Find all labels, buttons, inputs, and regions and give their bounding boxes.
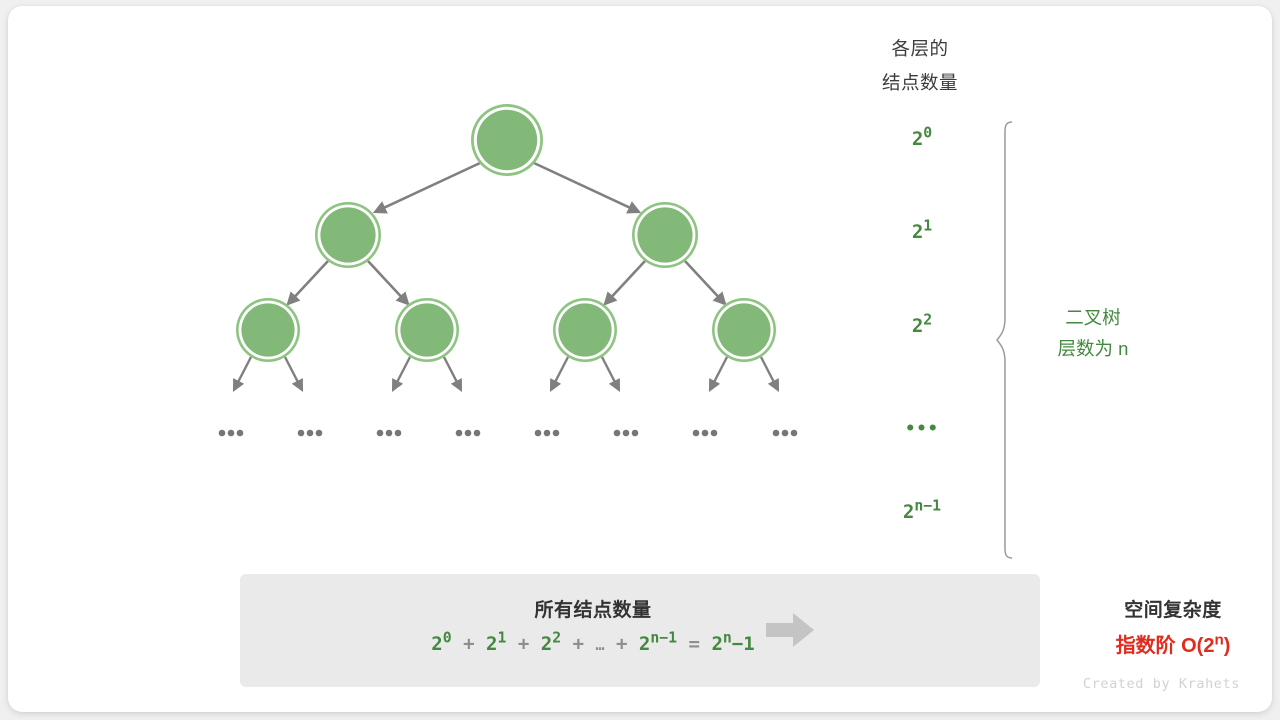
term-n-base: 2 (639, 633, 650, 655)
level-count-base-n: 2 (903, 501, 914, 523)
brace-annotation-line2: 层数为 n (1028, 333, 1158, 364)
brace-annotation: 二叉树 层数为 n (1028, 302, 1158, 364)
watermark-credit: Created by Krahets (1040, 676, 1240, 692)
result-base: 2 (711, 633, 722, 655)
total-nodes-title: 所有结点数量 (248, 595, 938, 622)
result-tail: −1 (732, 633, 755, 655)
right-arrow-icon (765, 612, 815, 648)
complexity-prefix: 指数阶 O( (1116, 635, 1204, 657)
term-2-base: 2 (541, 633, 552, 655)
tree-ellipsis-row (219, 430, 798, 437)
complexity-base: 2 (1203, 635, 1214, 657)
tree-nodes (236, 104, 776, 362)
complexity-value: 指数阶 O(2n) (1070, 629, 1276, 658)
term-2-exp: 2 (552, 630, 561, 647)
operator-plus-3: + (573, 633, 584, 655)
column-header-line1: 各层的 (840, 32, 1000, 66)
tree-node-root (471, 104, 543, 176)
term-n-exp: n−1 (650, 630, 677, 647)
tree-node-l2-3 (712, 298, 776, 362)
edge-l1-0-left (288, 261, 328, 304)
tree-node-l2-2 (553, 298, 617, 362)
complexity-block: 空间复杂度 指数阶 O(2n) (1070, 574, 1276, 687)
operator-plus-1: + (463, 633, 474, 655)
level-count-exp-1: 1 (923, 218, 932, 235)
edge-l1-1-left (605, 261, 645, 304)
level-count-base-2: 2 (912, 315, 923, 337)
edge-root-right (534, 163, 639, 212)
level-count-exp-0: 0 (923, 125, 932, 142)
level-count-label-0: 20 (857, 128, 987, 150)
edge-l1-1-right (685, 261, 725, 304)
summary-panel: 所有结点数量 20 + 21 + 22 + … + 2n−1 = 2n−1 空间… (240, 574, 1040, 687)
level-count-label-1: 21 (857, 221, 987, 243)
level-count-exp-n: n−1 (914, 498, 941, 515)
tree-node-l1-0 (315, 202, 381, 268)
column-header-line2: 结点数量 (840, 66, 1000, 100)
level-count-label-ellipsis: ••• (857, 419, 987, 439)
term-1-base: 2 (486, 633, 497, 655)
level-count-base-0: 2 (912, 128, 923, 150)
operator-equals: = (689, 633, 700, 655)
tree-node-l2-1 (395, 298, 459, 362)
level-count-base-1: 2 (912, 221, 923, 243)
level-count-label-n: 2n−1 (857, 501, 987, 523)
level-count-label-2: 22 (857, 315, 987, 337)
tree-node-l2-0 (236, 298, 300, 362)
term-0-base: 2 (431, 633, 442, 655)
operator-plus-2: + (518, 633, 529, 655)
result-exp: n (723, 630, 732, 647)
tree-node-l1-1 (632, 202, 698, 268)
complexity-exp: n (1214, 631, 1223, 648)
total-nodes-block: 所有结点数量 20 + 21 + 22 + … + 2n−1 = 2n−1 (248, 574, 978, 687)
operator-plus-4: + (616, 633, 627, 655)
complexity-suffix: ) (1224, 635, 1231, 657)
edge-root-left (375, 163, 480, 212)
curly-brace-icon (996, 120, 1026, 560)
tree-stub-edges (234, 357, 778, 390)
edge-l1-0-right (368, 261, 408, 304)
formula-ellipsis: … (595, 636, 604, 654)
term-1-exp: 1 (497, 630, 506, 647)
term-0-exp: 0 (443, 630, 452, 647)
brace-annotation-line1: 二叉树 (1028, 302, 1158, 333)
level-count-exp-2: 2 (923, 312, 932, 329)
total-nodes-formula: 20 + 21 + 22 + … + 2n−1 = 2n−1 (248, 633, 938, 655)
complexity-title: 空间复杂度 (1070, 595, 1276, 622)
